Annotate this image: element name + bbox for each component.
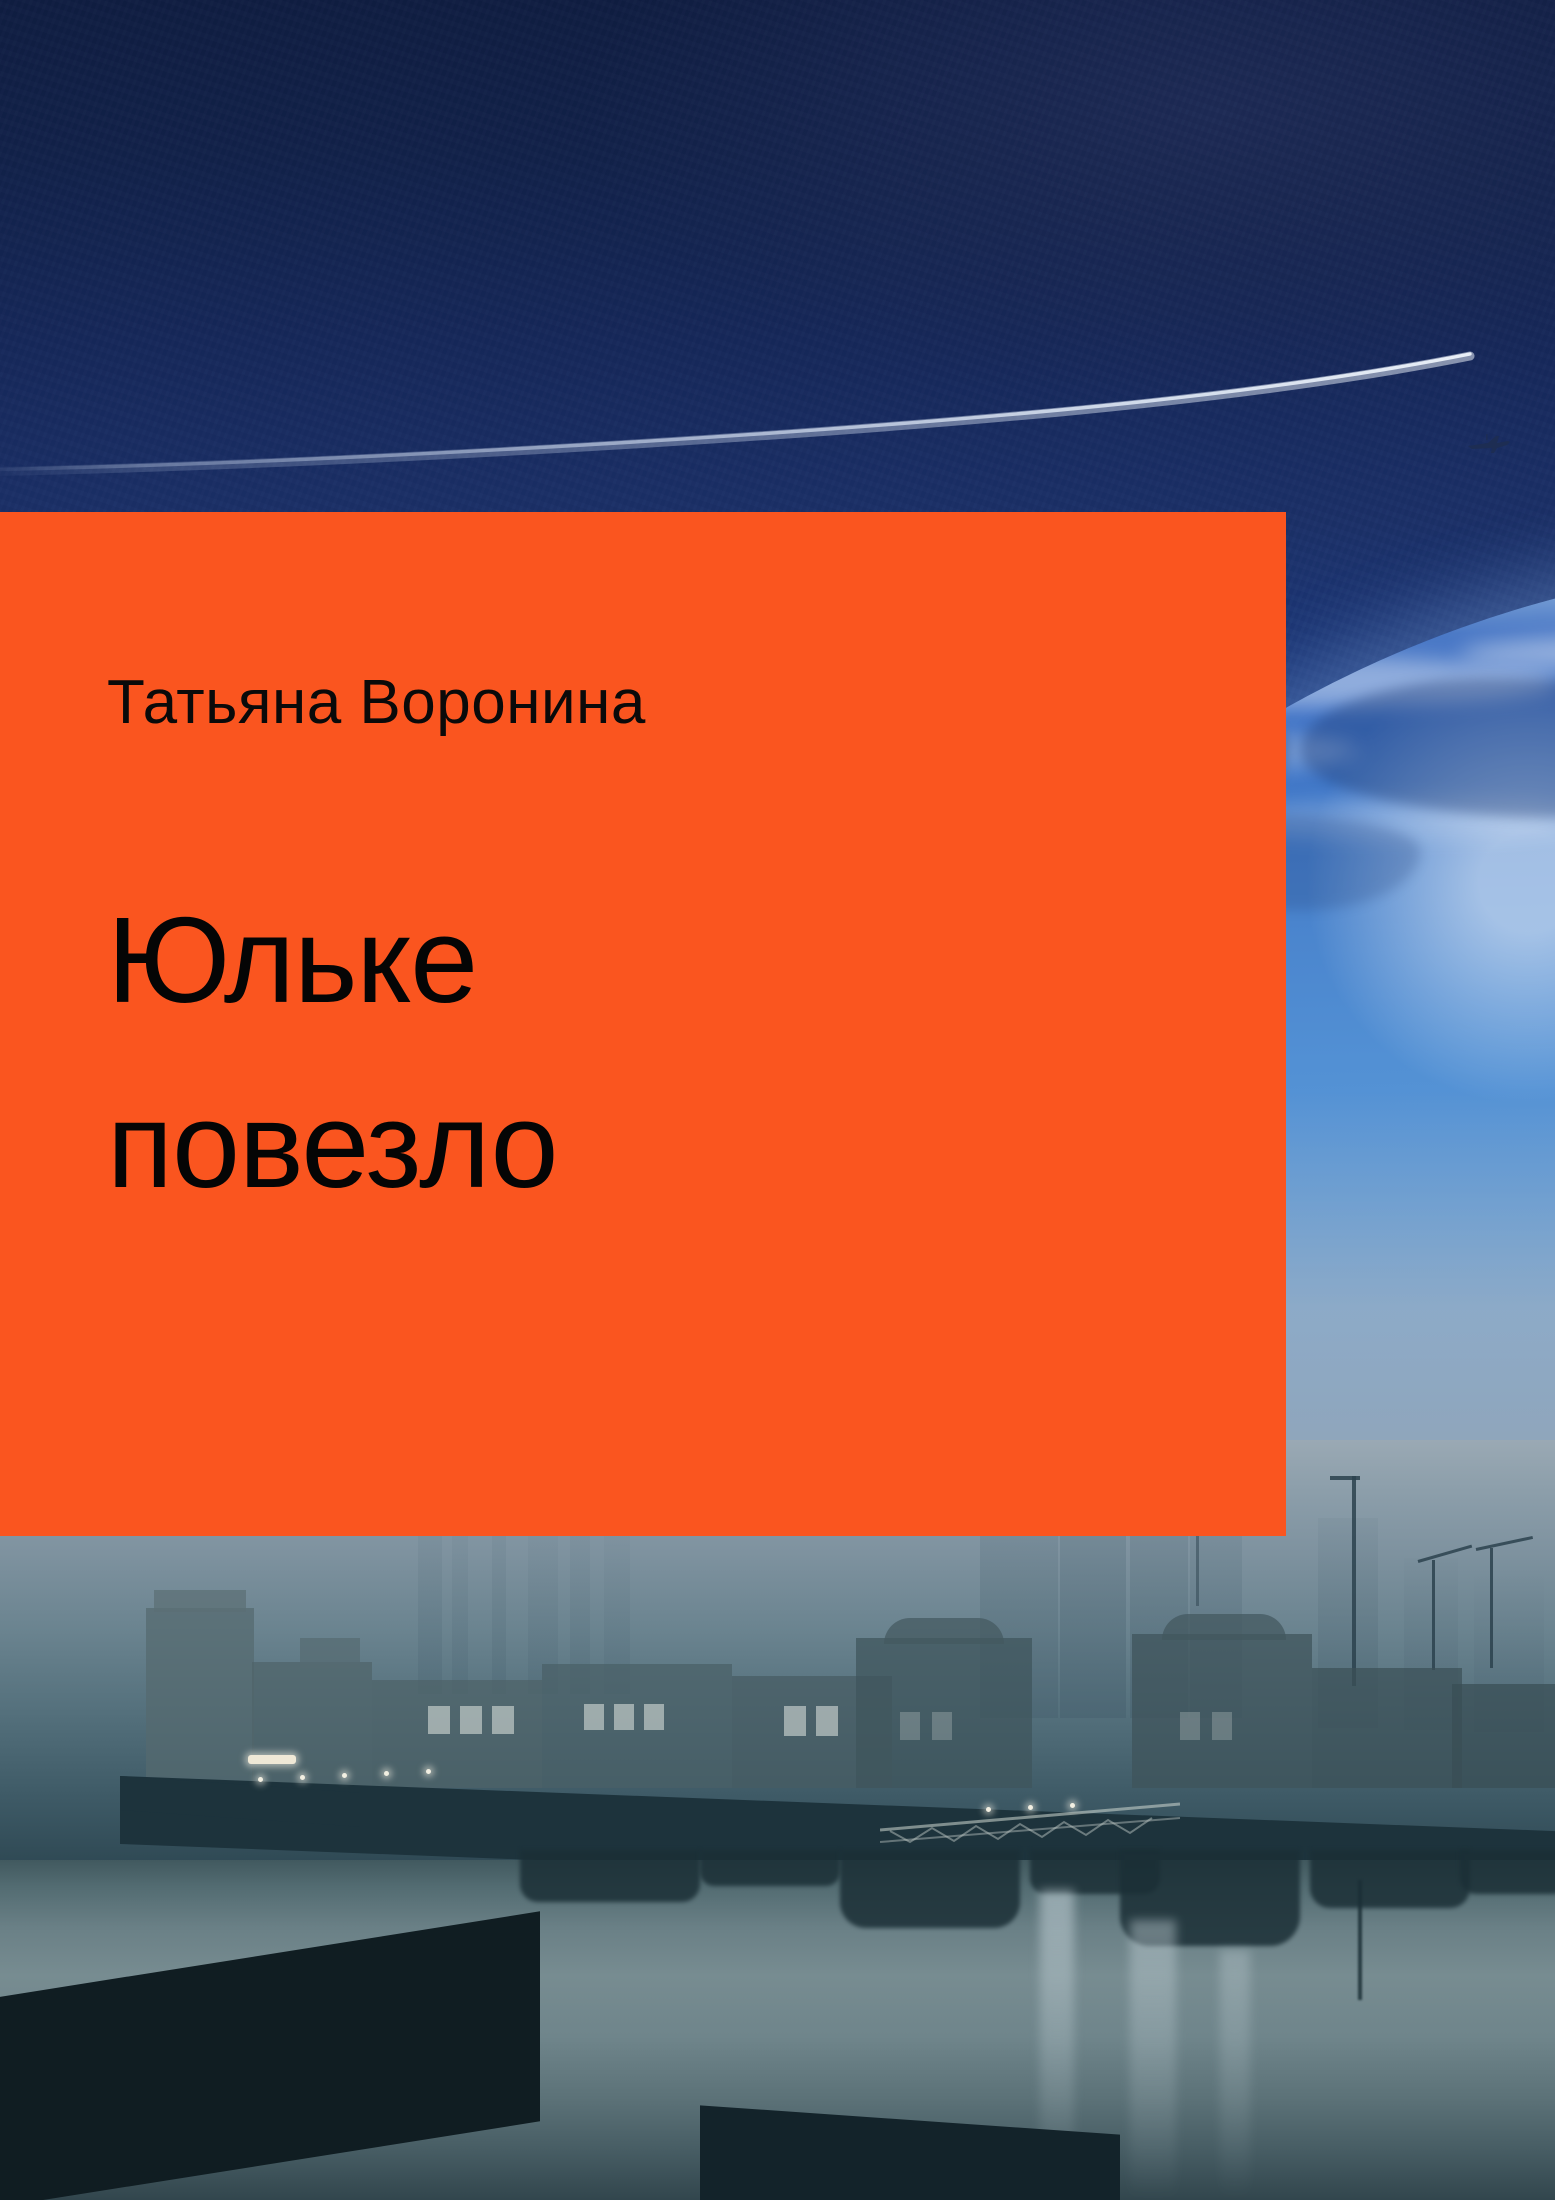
building-window — [1180, 1712, 1200, 1740]
foreground-shore — [0, 1911, 540, 2200]
building-reflection — [1310, 1850, 1470, 1908]
building-window — [784, 1706, 806, 1736]
street-lamp — [986, 1807, 991, 1812]
building-reflection — [700, 1850, 840, 1886]
airplane-contrail — [0, 300, 1555, 520]
construction-crane — [1330, 1476, 1360, 1480]
classical-building-roof — [884, 1618, 1004, 1644]
apartment-block — [146, 1608, 254, 1788]
apartment-block — [252, 1662, 372, 1788]
street-lamp — [1028, 1805, 1033, 1810]
construction-crane — [1476, 1536, 1533, 1551]
book-title: Юльке повезло — [107, 868, 558, 1239]
river-water — [0, 1860, 1555, 2200]
building-window — [614, 1704, 634, 1730]
riverside-building — [1452, 1684, 1555, 1788]
water-light-streak — [1220, 1950, 1250, 2200]
apartment-block — [542, 1664, 732, 1788]
street-lamp — [384, 1771, 389, 1776]
airplane-icon — [1466, 432, 1512, 454]
riverside-building — [1312, 1668, 1462, 1788]
water-light-streak — [1130, 1920, 1176, 2200]
building-window — [644, 1704, 664, 1730]
building-reflection — [1460, 1850, 1555, 1894]
book-cover: Татьяна Воронина Юльке повезло — [0, 0, 1555, 2200]
street-lamp — [300, 1775, 305, 1780]
classical-building-roof — [1162, 1614, 1286, 1640]
bridge-truss — [880, 1784, 1180, 1844]
apartment-block — [372, 1680, 542, 1788]
construction-crane — [1432, 1560, 1435, 1670]
building-reflection — [520, 1850, 700, 1902]
construction-crane — [1490, 1548, 1493, 1668]
apartment-block — [300, 1638, 360, 1668]
building-reflection — [840, 1850, 1020, 1928]
building-window — [932, 1712, 952, 1740]
building-window — [460, 1706, 482, 1734]
building-window — [1212, 1712, 1232, 1740]
street-lamp — [426, 1769, 431, 1774]
building-window — [900, 1712, 920, 1740]
lit-window — [248, 1755, 296, 1764]
street-lamp — [1070, 1803, 1075, 1808]
street-lamp — [342, 1773, 347, 1778]
author-name: Татьяна Воронина — [107, 672, 646, 734]
apartment-block — [154, 1590, 246, 1612]
building-window — [816, 1706, 838, 1736]
street-lamp — [258, 1777, 263, 1782]
construction-crane — [1352, 1476, 1356, 1686]
building-window — [428, 1706, 450, 1734]
mast-reflection — [1358, 1880, 1362, 2000]
building-window — [584, 1704, 604, 1730]
building-window — [492, 1706, 514, 1734]
classical-building — [1132, 1634, 1312, 1788]
construction-crane — [1196, 1526, 1199, 1606]
